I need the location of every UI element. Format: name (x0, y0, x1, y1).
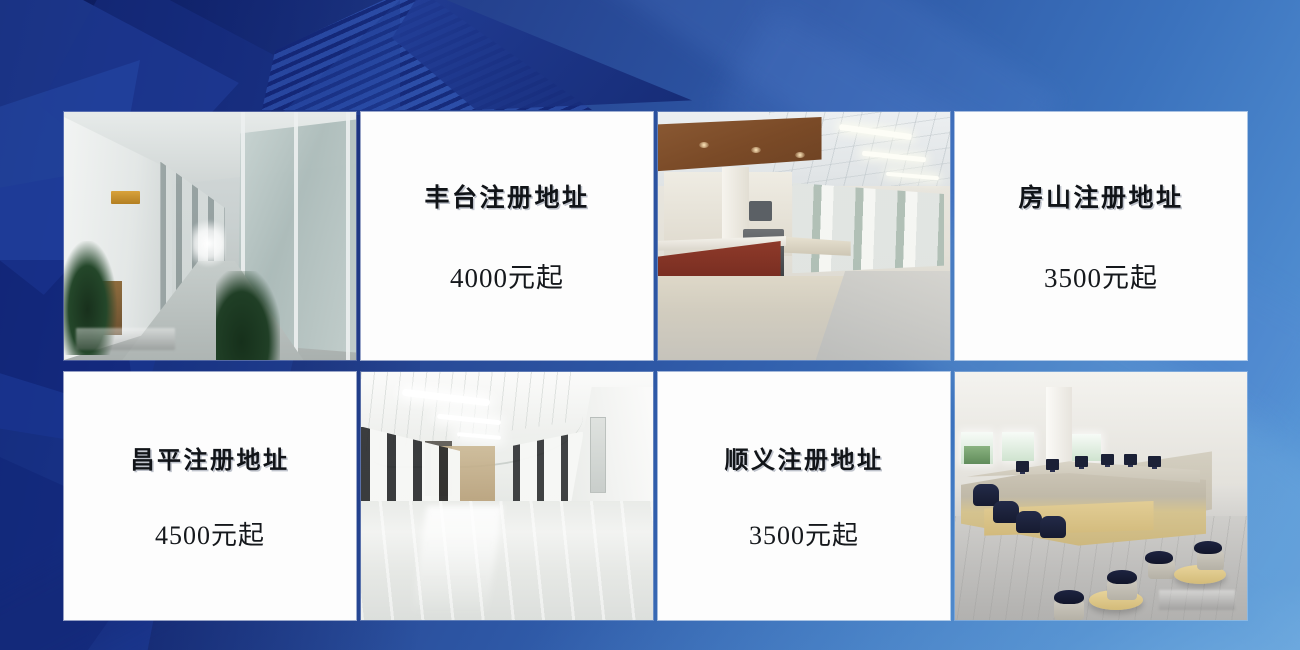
card-price: 4500元起 (155, 515, 265, 552)
card-title: 丰台注册地址 (424, 178, 589, 214)
window-greenery (964, 446, 990, 463)
downlight-2 (751, 147, 761, 153)
floor-light-reflection (412, 506, 503, 615)
wall-notice-panel (590, 417, 607, 493)
card-price: 4000元起 (450, 256, 564, 295)
reception-counter-photo (658, 112, 950, 360)
card-title: 房山注册地址 (1018, 178, 1183, 214)
changping-registration-card[interactable]: 昌平注册地址 4500元起 (64, 372, 356, 620)
shunyi-registration-card[interactable]: 顺义注册地址 3500元起 (658, 372, 950, 620)
workstation-monitor-6 (1148, 456, 1161, 467)
lounge-seat-4 (1194, 541, 1222, 554)
floor-gloss-reflection (361, 501, 653, 620)
photo-watermark (1159, 590, 1235, 610)
card-price: 3500元起 (1044, 256, 1158, 295)
card-title: 昌平注册地址 (131, 440, 290, 475)
workstation-monitor-3 (1075, 456, 1088, 467)
photo-watermark (76, 328, 175, 350)
lounge-seat-3 (1145, 551, 1173, 564)
glass-mullion-2 (294, 112, 298, 360)
white-corridor-photo (361, 372, 653, 620)
workstation-monitor-1 (1016, 461, 1029, 472)
card-title: 顺义注册地址 (725, 440, 884, 475)
card-price: 3500元起 (749, 515, 859, 552)
office-chair-4 (1040, 516, 1066, 538)
slide-canvas: 丰台注册地址 4000元起 (0, 0, 1300, 650)
workstation-monitor-5 (1124, 454, 1137, 465)
glass-mullion-3 (346, 112, 350, 360)
fangshan-registration-card[interactable]: 房山注册地址 3500元起 (955, 112, 1247, 360)
corridor-plant-right (216, 271, 280, 360)
card-grid: 丰台注册地址 4000元起 (64, 112, 1242, 620)
open-plan-office-photo (955, 372, 1247, 620)
office-chair-2 (993, 501, 1019, 523)
office-window-2 (1002, 432, 1034, 462)
counter-monitor (749, 201, 772, 221)
workstation-monitor-4 (1101, 454, 1114, 465)
office-corridor-photo-card[interactable] (64, 112, 356, 360)
lounge-seat-1 (1054, 590, 1084, 604)
lounge-seat-2 (1107, 570, 1137, 584)
corridor-end-light (192, 216, 224, 271)
workstation-monitor-2 (1046, 459, 1059, 470)
patient-bay-doors (792, 179, 944, 273)
office-corridor-photo (64, 112, 356, 360)
corridor-door-sign (111, 191, 140, 203)
downlight-3 (795, 152, 805, 158)
fengtai-registration-card[interactable]: 丰台注册地址 4000元起 (361, 112, 653, 360)
open-plan-office-photo-card[interactable] (955, 372, 1247, 620)
white-corridor-photo-card[interactable] (361, 372, 653, 620)
office-chair-3 (1016, 511, 1042, 533)
reception-counter-photo-card[interactable] (658, 112, 950, 360)
downlight-1 (699, 142, 709, 148)
